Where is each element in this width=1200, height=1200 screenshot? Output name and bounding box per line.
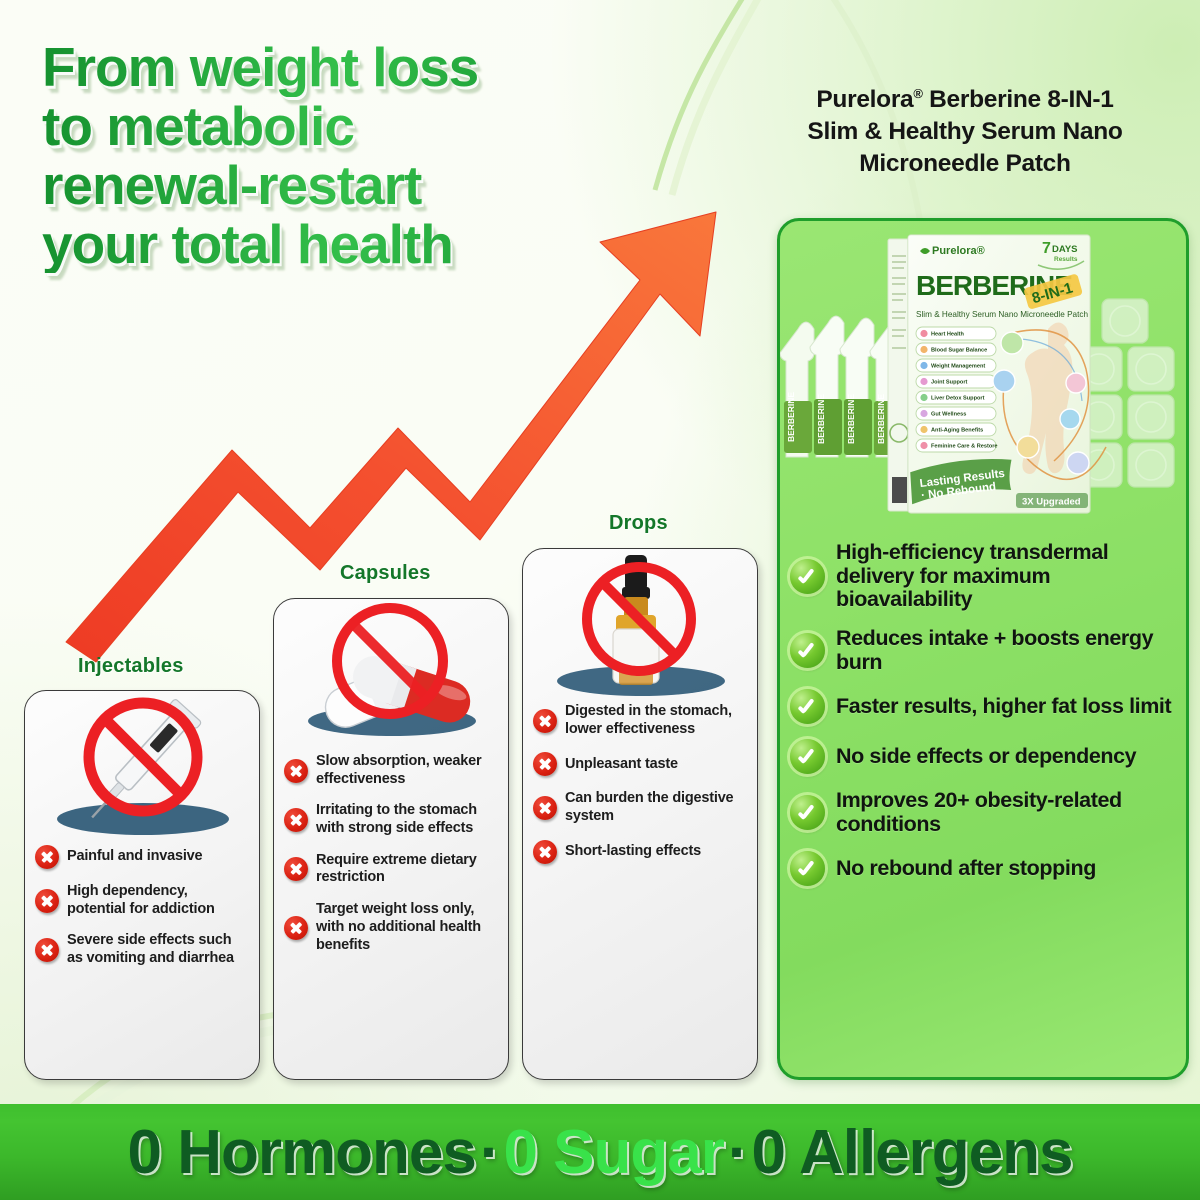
ampoule-group: BERBERINE BERBERINE BERBERINE BERBERINE	[780, 316, 904, 457]
banner-separator: ·	[724, 1118, 752, 1187]
infographic-canvas: From weight loss to metabolic renewal-re…	[0, 0, 1200, 1200]
check-icon	[790, 739, 825, 774]
benefit-item: No side effects or dependency	[790, 739, 1182, 774]
bullet-list-capsules: Slow absorption, weaker effectiveness Ir…	[274, 749, 508, 978]
cross-icon	[284, 808, 308, 832]
check-icon	[790, 633, 825, 668]
product-title-line-2: Slim & Healthy Serum Nano	[755, 116, 1175, 148]
list-item: Irritating to the stomach with strong si…	[284, 802, 496, 837]
banner-part-sugar: 0 Sugar	[503, 1118, 723, 1187]
benefit-item: Faster results, higher fat loss limit	[790, 689, 1182, 724]
cross-icon	[35, 889, 59, 913]
comparison-card-capsules: Slow absorption, weaker effectiveness Ir…	[273, 598, 509, 1080]
cross-icon	[284, 759, 308, 783]
product-title: Purelora® Berberine 8-IN-1 Slim & Health…	[755, 84, 1175, 180]
list-item: Short-lasting effects	[533, 840, 745, 864]
box-feature: Heart Health	[931, 332, 965, 338]
list-item: High dependency, potential for addiction	[35, 883, 247, 918]
box-feature: Feminine Care & Restore	[931, 444, 998, 450]
headline-line-1: From weight loss	[42, 38, 642, 97]
banner-separator: ·	[476, 1118, 504, 1187]
list-item: Unpleasant taste	[533, 752, 745, 776]
microneedle-patch-grid	[1076, 299, 1174, 487]
benefit-item: Improves 20+ obesity-related conditions	[790, 789, 1182, 836]
card-title-capsules: Capsules	[340, 562, 431, 585]
box-feature: Liver Detox Support	[931, 396, 985, 402]
cross-icon	[284, 857, 308, 881]
list-item: Painful and invasive	[35, 845, 247, 869]
list-item: Can burden the digestive system	[533, 790, 745, 825]
benefits-list: High-efficiency transdermal delivery for…	[790, 541, 1182, 901]
headline-line-2: to metabolic	[42, 97, 642, 156]
list-item: Require extreme dietary restriction	[284, 852, 496, 887]
product-photo: BERBERINE BERBERINE BERBERINE BERBERINE	[780, 221, 1189, 531]
list-item: Digested in the stomach, lower effective…	[533, 703, 745, 738]
registered-mark: ®	[913, 86, 922, 101]
bullet-list-drops: Digested in the stomach, lower effective…	[523, 699, 757, 888]
box-feature: Weight Management	[931, 364, 985, 370]
no-syringe-icon	[25, 691, 259, 841]
banner-part-allergens: 0 Allergens	[752, 1118, 1073, 1187]
benefits-panel: BERBERINE BERBERINE BERBERINE BERBERINE	[777, 218, 1189, 1080]
cross-icon	[533, 840, 557, 864]
cross-icon	[533, 796, 557, 820]
benefit-item: High-efficiency transdermal delivery for…	[790, 541, 1182, 612]
cross-icon	[35, 845, 59, 869]
cross-icon	[284, 916, 308, 940]
bottom-banner: 0 Hormones·0 Sugar·0 Allergens	[0, 1104, 1200, 1200]
ampoule-label: BERBERINE	[786, 392, 796, 442]
ampoule-label: BERBERINE	[816, 394, 826, 444]
check-icon	[790, 851, 825, 886]
no-dropper-icon	[523, 549, 757, 699]
comparison-card-drops: Digested in the stomach, lower effective…	[522, 548, 758, 1080]
check-icon	[790, 559, 825, 594]
list-item: Severe side effects such as vomiting and…	[35, 932, 247, 967]
ampoule-label: BERBERINE	[846, 394, 856, 444]
cross-icon	[533, 709, 557, 733]
upgrade-badge: 3X Upgraded	[1016, 493, 1088, 508]
product-title-line-3: Microneedle Patch	[755, 148, 1175, 180]
svg-text:DAYS: DAYS	[1052, 244, 1078, 255]
ampoule-label: BERBERINE	[876, 394, 886, 444]
check-icon	[790, 795, 825, 830]
benefit-item: No rebound after stopping	[790, 851, 1182, 886]
cross-icon	[533, 752, 557, 776]
product-title-line-1: Purelora® Berberine 8-IN-1	[755, 84, 1175, 116]
box-brand: Purelora®	[932, 245, 985, 257]
box-feature: Gut Wellness	[931, 412, 966, 418]
box-feature: Blood Sugar Balance	[931, 348, 987, 354]
card-title-drops: Drops	[609, 512, 668, 535]
banner-part-hormones: 0 Hormones	[127, 1118, 475, 1187]
comparison-card-injectables: Painful and invasive High dependency, po…	[24, 690, 260, 1080]
banner-text: 0 Hormones·0 Sugar·0 Allergens	[127, 1117, 1072, 1188]
cross-icon	[35, 938, 59, 962]
no-capsule-icon	[274, 599, 508, 749]
box-subtitle: Slim & Healthy Serum Nano Microneedle Pa…	[916, 310, 1088, 319]
svg-text:3X Upgraded: 3X Upgraded	[1022, 497, 1081, 508]
box-feature: Joint Support	[931, 380, 967, 386]
svg-text:Results: Results	[1054, 256, 1078, 263]
list-item: Slow absorption, weaker effectiveness	[284, 753, 496, 788]
list-item: Target weight loss only, with no additio…	[284, 901, 496, 954]
svg-text:7: 7	[1042, 240, 1051, 257]
benefit-item: Reduces intake + boosts energy burn	[790, 627, 1182, 674]
box-feature: Anti-Aging Benefits	[931, 428, 983, 434]
check-icon	[790, 689, 825, 724]
card-title-injectables: Injectables	[78, 655, 184, 678]
bullet-list-injectables: Painful and invasive High dependency, po…	[25, 841, 259, 992]
